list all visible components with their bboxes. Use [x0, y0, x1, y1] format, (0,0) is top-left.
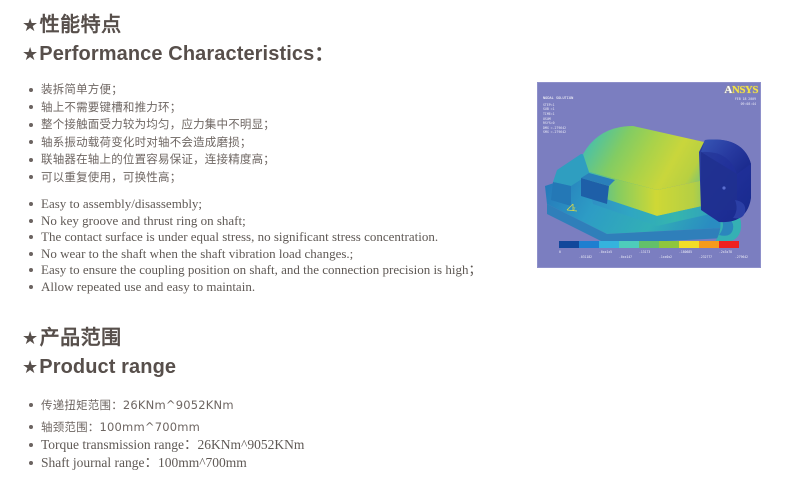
- bullet-text: 轴上不需要键槽和推力环；: [41, 100, 181, 114]
- bullet-text: 轴颈范围：100mm^700mm: [41, 420, 200, 434]
- bullet-text: Easy to ensure the coupling position on …: [41, 262, 481, 277]
- list-item: Allow repeated use and easy to maintain.: [28, 279, 481, 296]
- scale-label: .232777: [699, 255, 712, 259]
- performance-heading-en: ★Performance Characteristics：: [22, 41, 334, 67]
- bullet-text: No key groove and thrust ring on shaft;: [41, 213, 246, 228]
- list-item: No key groove and thrust ring on shaft;: [28, 213, 481, 230]
- color-scale-bar: [559, 241, 739, 248]
- scale-swatch: [659, 241, 679, 248]
- scale-swatch: [639, 241, 659, 248]
- section-performance: ★性能特点 ★Performance Characteristics：: [22, 12, 334, 67]
- scale-label: .0xx1x5: [599, 250, 612, 254]
- star-icon: ★: [22, 14, 39, 38]
- list-item: 轴上不需要键槽和推力环；: [28, 99, 275, 117]
- performance-heading-cn: ★性能特点: [22, 12, 334, 38]
- list-item: 传递扭矩范围：26KNm^9052KNm: [28, 394, 234, 416]
- list-item: Shaft journal range：100mm^700mm: [28, 454, 304, 472]
- scale-label: .1xx0x2: [659, 255, 672, 259]
- scale-swatch: [599, 241, 619, 248]
- fea-plot-area: ANSYS NODAL SOLUTIONSTEP=1 SUB =1 TIME=1…: [537, 82, 761, 268]
- product-range-heading-en-text: Product range: [39, 356, 176, 378]
- bullet-text: Easy to assembly/disassembly;: [41, 196, 202, 211]
- product-range-bullets-cn: 传递扭矩范围：26KNm^9052KNm 轴颈范围：100mm^700mm: [28, 394, 234, 438]
- performance-bullets-en: Easy to assembly/disassembly; No key gro…: [28, 196, 481, 295]
- scale-label: .0xx147: [619, 255, 632, 259]
- list-item: 轴系振动载荷变化时对轴不会造成磨损；: [28, 134, 275, 152]
- scale-label: .180685: [679, 250, 692, 254]
- list-item: 联轴器在轴上的位置容易保证，连接精度高；: [28, 151, 275, 169]
- list-item: 轴颈范围：100mm^700mm: [28, 416, 234, 438]
- bullet-text: 轴系振动载荷变化时对轴不会造成磨损；: [41, 135, 252, 149]
- bullet-text: Shaft journal range：100mm^700mm: [41, 455, 247, 470]
- scale-swatch: [699, 241, 719, 248]
- bullet-text: Torque transmission range：26KNm^9052KNm: [41, 437, 304, 452]
- color-scale-labels: 0 .0xx1x5 .13173 .180685 .2x3x78 .031182…: [553, 250, 748, 256]
- bullet-text: The contact surface is under equal stres…: [41, 229, 438, 244]
- list-item: Easy to assembly/disassembly;: [28, 196, 481, 213]
- scale-label: .031182: [579, 255, 592, 259]
- scale-label: .2x3x78: [719, 250, 732, 254]
- product-range-bullets-en: Torque transmission range：26KNm^9052KNm …: [28, 436, 304, 472]
- section-product-range: ★产品范围 ★Product range: [22, 325, 176, 380]
- scale-label: 0: [559, 250, 561, 254]
- scale-swatch: [559, 241, 579, 248]
- bullet-text: 整个接触面受力较为均匀，应力集中不明显；: [41, 117, 275, 131]
- performance-heading-en-text: Performance Characteristics：: [39, 43, 334, 65]
- scale-swatch: [579, 241, 599, 248]
- fea-figure: ANSYS NODAL SOLUTIONSTEP=1 SUB =1 TIME=1…: [499, 78, 791, 273]
- bullet-text: Allow repeated use and easy to maintain.: [41, 279, 255, 294]
- scale-swatch: [619, 241, 639, 248]
- bullet-text: 联轴器在轴上的位置容易保证，连接精度高；: [41, 152, 275, 166]
- list-item: No wear to the shaft when the shaft vibr…: [28, 246, 481, 263]
- axis-triad-label: Z: [573, 207, 575, 212]
- product-range-heading-en: ★Product range: [22, 354, 176, 380]
- bullet-text: No wear to the shaft when the shaft vibr…: [41, 246, 353, 261]
- poster-page: ★性能特点 ★Performance Characteristics： 装拆简单…: [0, 0, 811, 477]
- star-icon: ★: [22, 327, 39, 351]
- star-icon: ★: [22, 41, 38, 67]
- bullet-text: 传递扭矩范围：26KNm^9052KNm: [41, 398, 234, 412]
- list-item: 可以重复使用，可换性高；: [28, 169, 275, 187]
- bullet-text: 可以重复使用，可换性高；: [41, 170, 181, 184]
- bullet-text: 装拆简单方便；: [41, 82, 123, 96]
- list-item: 整个接触面受力较为均匀，应力集中不明显；: [28, 116, 275, 134]
- performance-heading-cn-text: 性能特点: [40, 12, 122, 36]
- star-icon: ★: [22, 354, 38, 380]
- list-item: The contact surface is under equal stres…: [28, 229, 481, 246]
- scale-swatch: [679, 241, 699, 248]
- scale-label: .13173: [639, 250, 650, 254]
- list-item: Easy to ensure the coupling position on …: [28, 262, 481, 279]
- list-item: Torque transmission range：26KNm^9052KNm: [28, 436, 304, 454]
- product-range-heading-cn: ★产品范围: [22, 325, 176, 351]
- list-item: 装拆简单方便；: [28, 81, 275, 99]
- performance-bullets-cn: 装拆简单方便； 轴上不需要键槽和推力环； 整个接触面受力较为均匀，应力集中不明显…: [28, 81, 275, 186]
- scale-swatch: [719, 241, 739, 248]
- scale-label: .279642: [735, 255, 748, 259]
- product-range-heading-cn-text: 产品范围: [40, 325, 122, 349]
